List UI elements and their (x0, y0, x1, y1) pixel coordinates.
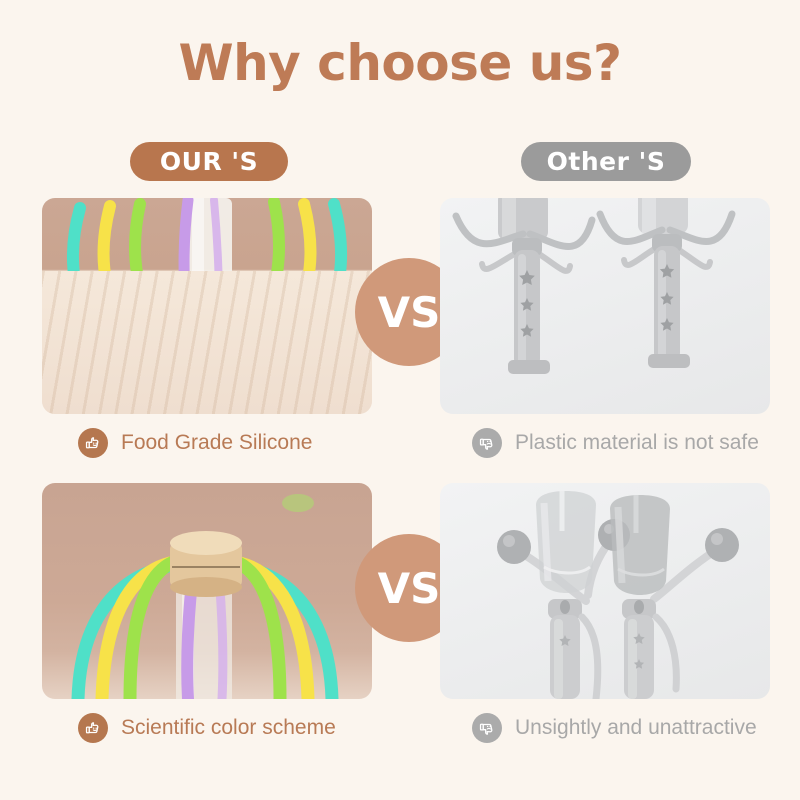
thumbs-down-icon (472, 713, 502, 743)
badge-ours: OUR 'S (130, 142, 288, 181)
caption-ours-row2: Scientific color scheme (78, 713, 336, 743)
photo-ours-row2-scene (42, 483, 372, 699)
photo-ours-row1 (42, 198, 372, 414)
thumbs-up-icon (78, 428, 108, 458)
photo-other-row2-scene (440, 483, 770, 699)
thumbs-down-icon (472, 428, 502, 458)
caption-text: Scientific color scheme (121, 716, 336, 740)
badge-other: Other 'S (521, 142, 691, 181)
plastic-rattle-handles-illustration (440, 198, 770, 414)
caption-text: Unsightly and unattractive (515, 716, 757, 740)
caption-other-row2: Unsightly and unattractive (472, 713, 757, 743)
photo-other-row1 (440, 198, 770, 414)
caption-text: Plastic material is not safe (515, 431, 759, 455)
rattle-toy-top-illustration (42, 483, 372, 699)
plastic-rattle-balls-illustration (440, 483, 770, 699)
photo-other-row2 (440, 483, 770, 699)
rattle-toy-front-illustration (42, 198, 372, 414)
photo-ours-row2 (42, 483, 372, 699)
infographic-page: Why choose us? OUR 'S Other 'S (0, 0, 800, 800)
caption-other-row1: Plastic material is not safe (472, 428, 759, 458)
thumbs-up-icon (78, 713, 108, 743)
caption-ours-row1: Food Grade Silicone (78, 428, 312, 458)
photo-other-row1-scene (440, 198, 770, 414)
page-title: Why choose us? (0, 34, 800, 92)
photo-ours-row1-scene (42, 198, 372, 414)
caption-text: Food Grade Silicone (121, 431, 312, 455)
